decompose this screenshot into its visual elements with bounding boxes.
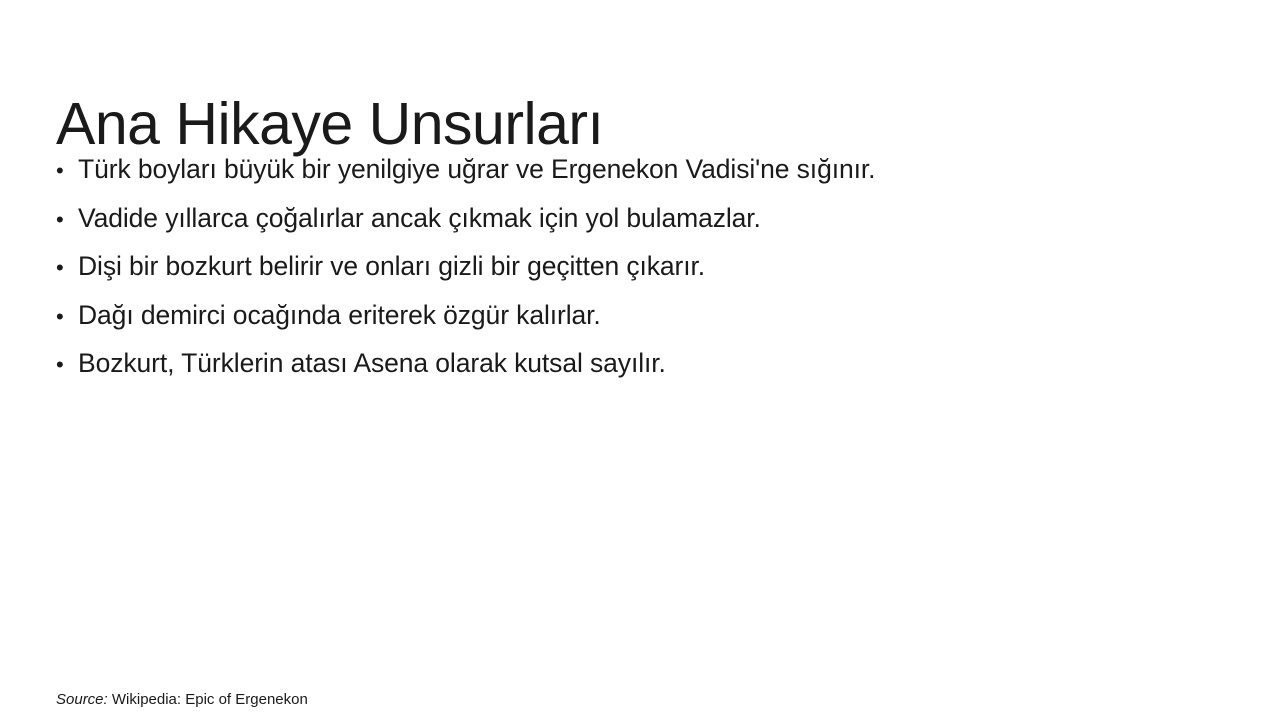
source-value: Wikipedia: Epic of Ergenekon [112,691,308,708]
list-item: • Bozkurt, Türklerin atası Asena olarak … [56,340,1176,389]
list-item: • Türk boyları büyük bir yenilgiye uğrar… [56,146,1176,195]
bullet-point-icon: • [56,197,78,244]
bullet-list: • Türk boyları büyük bir yenilgiye uğrar… [56,146,1176,389]
source-attribution: Source: Wikipedia: Epic of Ergenekon [56,690,308,710]
list-item: • Dişi bir bozkurt belirir ve onları giz… [56,243,1176,292]
bullet-point-icon: • [56,148,78,195]
list-item-text: Dağı demirci ocağında eriterek özgür kal… [78,292,601,339]
source-label: Source: [56,691,108,708]
bullet-point-icon: • [56,294,78,341]
slide-canvas: Ana Hikaye Unsurları • Türk boyları büyü… [0,0,1280,720]
list-item: • Vadide yıllarca çoğalırlar ancak çıkma… [56,195,1176,244]
list-item-text: Dişi bir bozkurt belirir ve onları gizli… [78,243,705,290]
bullet-point-icon: • [56,342,78,389]
list-item-text: Türk boyları büyük bir yenilgiye uğrar v… [78,146,875,193]
list-item: • Dağı demirci ocağında eriterek özgür k… [56,292,1176,341]
list-item-text: Vadide yıllarca çoğalırlar ancak çıkmak … [78,195,761,242]
bullet-point-icon: • [56,245,78,292]
list-item-text: Bozkurt, Türklerin atası Asena olarak ku… [78,340,666,387]
